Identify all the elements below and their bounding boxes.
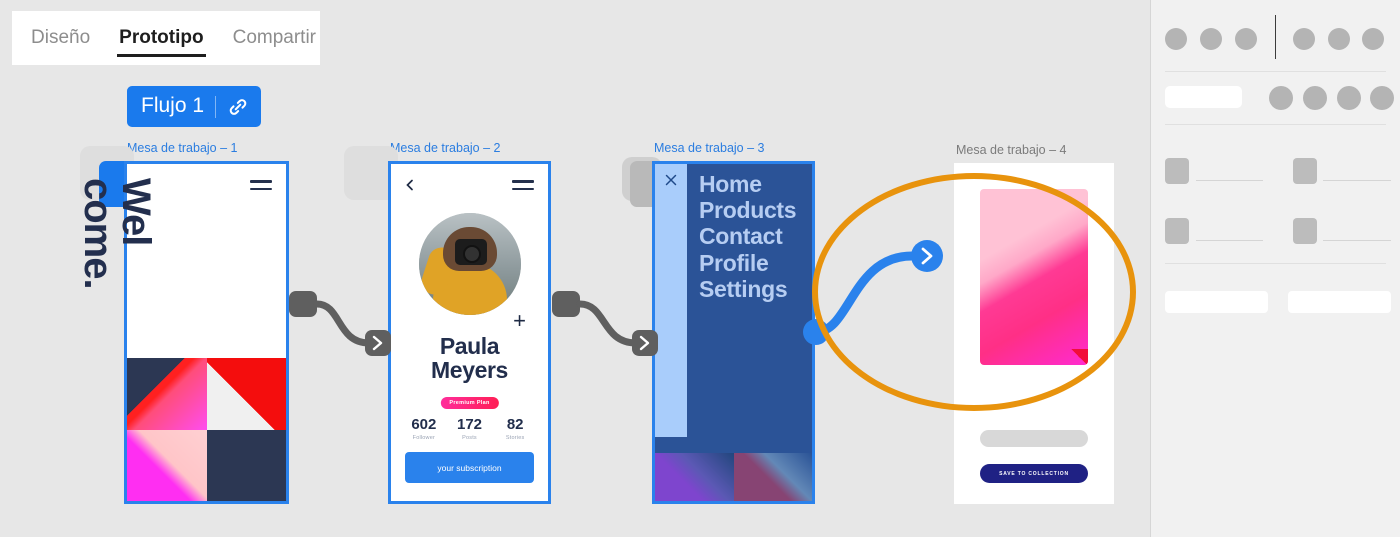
stat-posts-value: 172 — [447, 416, 493, 433]
artboard-label-2[interactable]: Mesa de trabajo – 2 — [390, 141, 501, 155]
sidebar-button-1[interactable] — [1165, 291, 1268, 313]
profile-name-line2: Meyers — [431, 357, 508, 383]
sidebar-divider-1 — [1165, 71, 1386, 72]
sidebar-icon-8[interactable] — [1303, 86, 1327, 110]
sidebar-swatch-1[interactable] — [1165, 158, 1189, 184]
sidebar-field-2[interactable] — [1323, 180, 1391, 181]
subscription-button[interactable]: your subscription — [405, 452, 534, 483]
flow-badge-label: Flujo 1 — [141, 95, 204, 118]
menu-side-strip — [655, 164, 687, 437]
connector-path — [317, 304, 369, 343]
menu-item-contact[interactable]: Contact — [699, 223, 796, 249]
menu-item-products[interactable]: Products — [699, 197, 796, 223]
welcome-heading: Welcome. — [79, 178, 155, 289]
sidebar-divider-2 — [1165, 124, 1386, 125]
sidebar-icon-5[interactable] — [1328, 28, 1350, 50]
connector-path — [580, 304, 636, 343]
plan-badge: Premium Plan — [440, 397, 498, 409]
sidebar-icon-4[interactable] — [1293, 28, 1315, 50]
geo-cell-1 — [127, 358, 207, 430]
prototype-canvas-app: Diseño Prototipo Compartir Flujo 1 Mesa … — [0, 0, 1400, 537]
geo-cell-2 — [207, 358, 287, 430]
sidebar-text-input[interactable] — [1165, 86, 1242, 108]
sidebar-field-3[interactable] — [1196, 240, 1263, 241]
stat-stories: 82 Stories — [492, 416, 538, 441]
link-icon[interactable] — [227, 96, 249, 118]
mode-tabbar: Diseño Prototipo Compartir — [12, 11, 320, 65]
tab-compartir[interactable]: Compartir — [233, 11, 316, 65]
menu-item-settings[interactable]: Settings — [699, 276, 796, 302]
save-to-collection-button[interactable]: SAVE TO COLLECTION — [980, 464, 1088, 483]
sidebar-swatch-2[interactable] — [1293, 158, 1317, 184]
connector-end-node[interactable] — [365, 330, 391, 356]
tab-prototipo[interactable]: Prototipo — [119, 11, 203, 65]
geo-cell-3 — [127, 430, 207, 502]
sidebar-icon-1[interactable] — [1165, 28, 1187, 50]
stat-follower-caption: Follower — [401, 435, 447, 441]
sidebar-field-4[interactable] — [1323, 240, 1391, 241]
artboard-label-1[interactable]: Mesa de trabajo – 1 — [127, 141, 238, 155]
hamburger-icon[interactable] — [250, 180, 272, 195]
connector-2-to-3[interactable] — [552, 285, 656, 365]
connector-end-node[interactable] — [632, 330, 658, 356]
stat-stories-value: 82 — [492, 416, 538, 433]
sidebar-icon-3[interactable] — [1235, 28, 1257, 50]
sidebar-swatch-3[interactable] — [1165, 218, 1189, 244]
geometric-graphic-3 — [655, 453, 812, 501]
artboard-label-4[interactable]: Mesa de trabajo – 4 — [956, 143, 1067, 157]
flow-badge-divider — [215, 96, 216, 118]
geometric-graphic-1 — [127, 358, 286, 501]
artboard-2[interactable]: + Paula Meyers Premium Plan 602 Follower… — [388, 161, 551, 504]
chevron-left-icon[interactable] — [404, 179, 416, 191]
profile-stats: 602 Follower 172 Posts 82 Stories — [401, 416, 538, 441]
sidebar-icon-10[interactable] — [1370, 86, 1394, 110]
sidebar-vertical-divider — [1275, 15, 1276, 59]
stat-follower: 602 Follower — [401, 416, 447, 441]
geo-blue-tint — [655, 453, 812, 501]
tab-prototipo-label: Prototipo — [119, 27, 203, 49]
artboard-label-3[interactable]: Mesa de trabajo – 3 — [654, 141, 765, 155]
stat-posts: 172 Posts — [447, 416, 493, 441]
menu-list: Home Products Contact Profile Settings — [699, 171, 796, 302]
stat-stories-caption: Stories — [492, 435, 538, 441]
sidebar-divider-3 — [1165, 263, 1386, 264]
menu-item-home[interactable]: Home — [699, 171, 796, 197]
menu-item-profile[interactable]: Profile — [699, 250, 796, 276]
artboard-1[interactable]: Welcome. — [124, 161, 289, 504]
close-icon[interactable] — [665, 174, 677, 186]
sidebar-icon-9[interactable] — [1337, 86, 1361, 110]
inspector-sidebar — [1150, 0, 1400, 537]
stat-follower-value: 602 — [401, 416, 447, 433]
connector-start-node[interactable] — [289, 291, 317, 317]
sidebar-icon-7[interactable] — [1269, 86, 1293, 110]
sidebar-button-2[interactable] — [1288, 291, 1391, 313]
profile-name: Paula Meyers — [391, 334, 548, 383]
connector-start-node[interactable] — [552, 291, 580, 317]
sidebar-field-1[interactable] — [1196, 180, 1263, 181]
tab-diseno-label: Diseño — [31, 27, 90, 49]
avatar — [419, 213, 521, 315]
sidebar-icon-2[interactable] — [1200, 28, 1222, 50]
sidebar-icon-6[interactable] — [1362, 28, 1384, 50]
plus-icon[interactable]: + — [513, 310, 526, 332]
geo-cell-4 — [207, 430, 287, 502]
profile-name-line1: Paula — [440, 333, 499, 359]
tab-compartir-label: Compartir — [233, 27, 316, 49]
placeholder-bar — [980, 430, 1088, 447]
sidebar-swatch-4[interactable] — [1293, 218, 1317, 244]
stat-posts-caption: Posts — [447, 435, 493, 441]
flow-badge[interactable]: Flujo 1 — [127, 86, 261, 127]
artboard-3[interactable]: Home Products Contact Profile Settings — [652, 161, 815, 504]
connector-1-to-2[interactable] — [289, 285, 389, 365]
highlight-circle — [812, 173, 1136, 411]
tab-diseno[interactable]: Diseño — [31, 11, 90, 65]
hamburger-icon[interactable] — [512, 180, 534, 195]
